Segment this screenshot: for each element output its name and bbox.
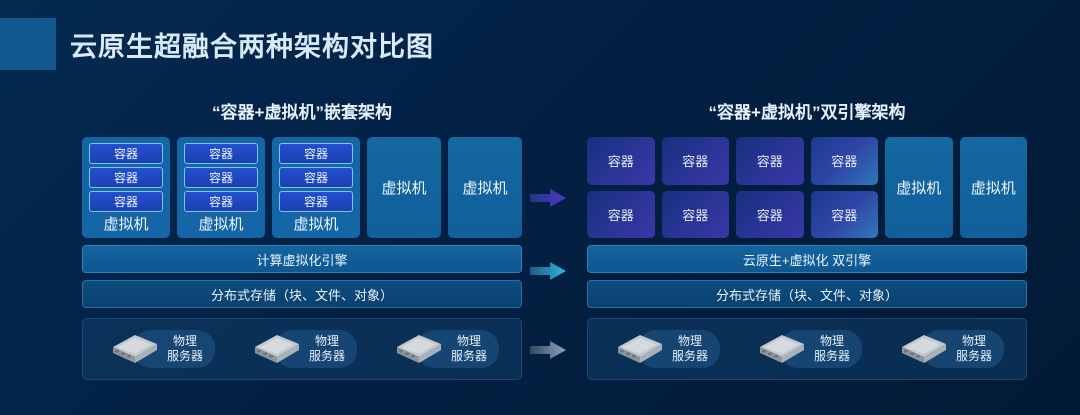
server-icon xyxy=(389,329,445,369)
server-icon xyxy=(752,329,808,369)
container-box[interactable]: 容器 xyxy=(587,191,655,239)
container-box[interactable]: 容器 xyxy=(662,191,730,239)
container-column[interactable]: 容器 容器 xyxy=(736,137,804,238)
right-physical-server-panel: 物理 服务器 物理 服务器 xyxy=(587,318,1027,380)
container-box[interactable]: 容器 xyxy=(811,137,879,185)
server-icon xyxy=(610,329,666,369)
server-label-line2: 服务器 xyxy=(956,349,992,364)
physical-server-item[interactable]: 物理 服务器 xyxy=(105,329,215,369)
vm-block[interactable]: 虚拟机 xyxy=(960,137,1028,238)
container-box[interactable]: 容器 xyxy=(811,191,879,239)
page-title-bar: 云原生超融合两种架构对比图 xyxy=(0,18,434,70)
left-compute-row: 容器 容器 容器 虚拟机 容器 容器 容器 虚拟机 容器 容器 容器 虚拟机 xyxy=(82,137,522,238)
server-label-line1: 物理 xyxy=(956,334,992,349)
arrow-engine xyxy=(530,261,566,281)
left-engine-bar[interactable]: 计算虚拟化引擎 xyxy=(82,245,522,273)
container-box[interactable]: 容器 xyxy=(184,167,258,188)
container-box[interactable]: 容器 xyxy=(89,143,163,164)
container-box[interactable]: 容器 xyxy=(184,143,258,164)
container-box[interactable]: 容器 xyxy=(279,143,353,164)
container-column[interactable]: 容器 容器 xyxy=(587,137,655,238)
vm-host-column[interactable]: 容器 容器 容器 虚拟机 xyxy=(82,137,170,238)
vm-block[interactable]: 虚拟机 xyxy=(448,137,522,238)
left-storage-bar[interactable]: 分布式存储（块、文件、对象） xyxy=(82,280,522,308)
vm-block[interactable]: 虚拟机 xyxy=(885,137,953,238)
container-column[interactable]: 容器 容器 xyxy=(662,137,730,238)
container-box[interactable]: 容器 xyxy=(662,137,730,185)
server-label-line1: 物理 xyxy=(167,334,203,349)
vm-host-label: 虚拟机 xyxy=(279,215,353,236)
server-label-line2: 服务器 xyxy=(309,349,345,364)
server-label-line1: 物理 xyxy=(451,334,487,349)
vm-host-column[interactable]: 容器 容器 容器 虚拟机 xyxy=(272,137,360,238)
server-label-line2: 服务器 xyxy=(451,349,487,364)
left-panel-heading: “容器+虚拟机”嵌套架构 xyxy=(82,98,522,123)
server-label-line2: 服务器 xyxy=(814,349,850,364)
dual-engine-architecture-panel: “容器+虚拟机”双引擎架构 容器 容器 容器 容器 容器 容器 容器 容器 虚拟… xyxy=(587,98,1027,380)
physical-server-item[interactable]: 物理 服务器 xyxy=(752,329,862,369)
physical-server-item[interactable]: 物理 服务器 xyxy=(247,329,357,369)
container-box[interactable]: 容器 xyxy=(587,137,655,185)
container-box[interactable]: 容器 xyxy=(184,191,258,212)
container-box[interactable]: 容器 xyxy=(736,137,804,185)
container-column[interactable]: 容器 容器 xyxy=(811,137,879,238)
server-icon xyxy=(247,329,303,369)
container-box[interactable]: 容器 xyxy=(89,191,163,212)
server-label-line2: 服务器 xyxy=(672,349,708,364)
server-label-line1: 物理 xyxy=(309,334,345,349)
container-box[interactable]: 容器 xyxy=(736,191,804,239)
vm-host-column[interactable]: 容器 容器 容器 虚拟机 xyxy=(177,137,265,238)
right-panel-heading: “容器+虚拟机”双引擎架构 xyxy=(587,98,1027,123)
container-box[interactable]: 容器 xyxy=(89,167,163,188)
server-label-line1: 物理 xyxy=(672,334,708,349)
server-icon xyxy=(894,329,950,369)
right-storage-bar[interactable]: 分布式存储（块、文件、对象） xyxy=(587,280,1027,308)
container-box[interactable]: 容器 xyxy=(279,167,353,188)
right-compute-row: 容器 容器 容器 容器 容器 容器 容器 容器 虚拟机 虚拟机 xyxy=(587,137,1027,238)
server-label-line1: 物理 xyxy=(814,334,850,349)
right-engine-bar[interactable]: 云原生+虚拟化 双引擎 xyxy=(587,245,1027,273)
title-accent-block xyxy=(0,18,56,70)
arrow-server xyxy=(530,340,566,360)
vm-block[interactable]: 虚拟机 xyxy=(367,137,441,238)
physical-server-item[interactable]: 物理 服务器 xyxy=(389,329,499,369)
physical-server-item[interactable]: 物理 服务器 xyxy=(894,329,1004,369)
container-box[interactable]: 容器 xyxy=(279,191,353,212)
vm-host-label: 虚拟机 xyxy=(184,215,258,236)
server-label-line2: 服务器 xyxy=(167,349,203,364)
page-title: 云原生超融合两种架构对比图 xyxy=(70,25,434,64)
nested-architecture-panel: “容器+虚拟机”嵌套架构 容器 容器 容器 虚拟机 容器 容器 容器 虚拟机 容… xyxy=(82,98,522,380)
arrow-compute xyxy=(530,188,566,208)
vm-host-label: 虚拟机 xyxy=(89,215,163,236)
physical-server-item[interactable]: 物理 服务器 xyxy=(610,329,720,369)
left-physical-server-panel: 物理 服务器 物理 服务器 xyxy=(82,318,522,380)
server-icon xyxy=(105,329,161,369)
